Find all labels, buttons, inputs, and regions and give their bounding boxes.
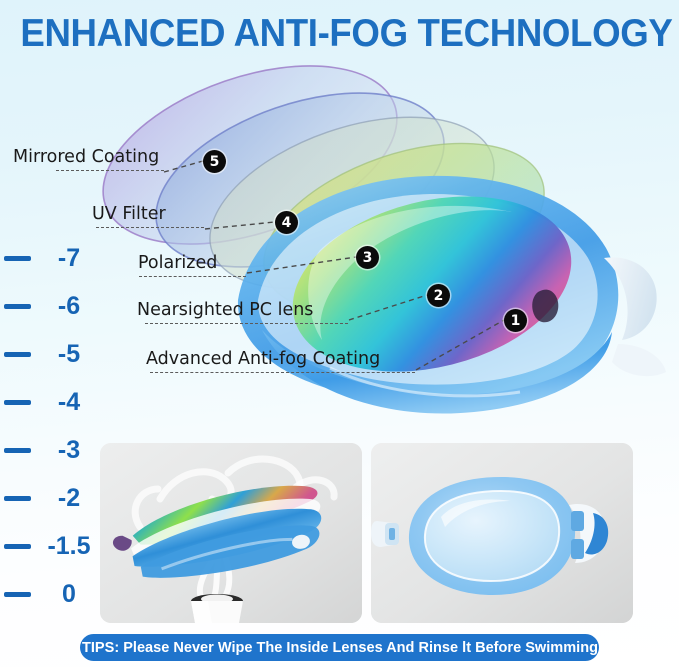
callout-4: UV Filter bbox=[92, 204, 204, 228]
diopter-value: 0 bbox=[40, 580, 98, 609]
callout-label: UV Filter bbox=[92, 204, 204, 224]
diopter-value: -2 bbox=[40, 484, 98, 513]
tips-banner: TIPS: Please Never Wipe The Inside Lense… bbox=[80, 634, 599, 661]
diopter-tick-icon bbox=[4, 304, 31, 309]
steam-fog-test-photo bbox=[100, 443, 362, 623]
diopter-scale-row: -7 bbox=[0, 243, 98, 273]
callout-label: Nearsighted PC lens bbox=[137, 300, 348, 320]
callout-label: Mirrored Coating bbox=[13, 147, 164, 167]
diopter-tick-icon bbox=[4, 352, 31, 357]
diopter-scale-row: -5 bbox=[0, 339, 98, 369]
diopter-scale-row: -1.5 bbox=[0, 531, 98, 561]
diopter-scale-row: -4 bbox=[0, 387, 98, 417]
diopter-scale-row: -6 bbox=[0, 291, 98, 321]
infographic-canvas: ENHANCED ANTI-FOG TECHNOLOGY bbox=[0, 0, 679, 667]
callout-1: Advanced Anti-fog Coating bbox=[146, 349, 415, 373]
diopter-scale-row: -2 bbox=[0, 483, 98, 513]
callout-label: Advanced Anti-fog Coating bbox=[146, 349, 415, 369]
callout-dashed-underline bbox=[150, 372, 415, 373]
goggle-inside-lens-photo bbox=[371, 443, 633, 623]
diopter-tick-icon bbox=[4, 544, 31, 549]
callout-dashed-underline bbox=[56, 170, 164, 171]
callout-3: Polarized bbox=[138, 253, 246, 277]
diopter-value: -5 bbox=[40, 340, 98, 369]
diopter-value: -3 bbox=[40, 436, 98, 465]
diopter-value: -6 bbox=[40, 292, 98, 321]
diopter-value: -1.5 bbox=[40, 532, 98, 561]
diopter-value: -4 bbox=[40, 388, 98, 417]
callout-2: Nearsighted PC lens bbox=[137, 300, 348, 324]
callout-badge-3: 3 bbox=[356, 246, 379, 269]
diopter-tick-icon bbox=[4, 496, 31, 501]
callout-5: Mirrored Coating bbox=[13, 147, 164, 171]
tips-banner-text: TIPS: Please Never Wipe The Inside Lense… bbox=[82, 639, 598, 656]
diopter-value: -7 bbox=[40, 244, 98, 273]
callout-badge-1: 1 bbox=[504, 309, 527, 332]
callout-dashed-underline bbox=[96, 227, 204, 228]
diopter-scale-row: -3 bbox=[0, 435, 98, 465]
diopter-tick-icon bbox=[4, 256, 31, 261]
diopter-tick-icon bbox=[4, 448, 31, 453]
callout-dashed-underline bbox=[145, 323, 348, 324]
diopter-tick-icon bbox=[4, 592, 31, 597]
diopter-scale-row: 0 bbox=[0, 579, 98, 609]
callout-label: Polarized bbox=[138, 253, 246, 273]
callout-badge-2: 2 bbox=[427, 284, 450, 307]
callout-badge-5: 5 bbox=[203, 150, 226, 173]
callout-badge-4: 4 bbox=[275, 211, 298, 234]
diopter-tick-icon bbox=[4, 400, 31, 405]
callout-dashed-underline bbox=[139, 276, 246, 277]
